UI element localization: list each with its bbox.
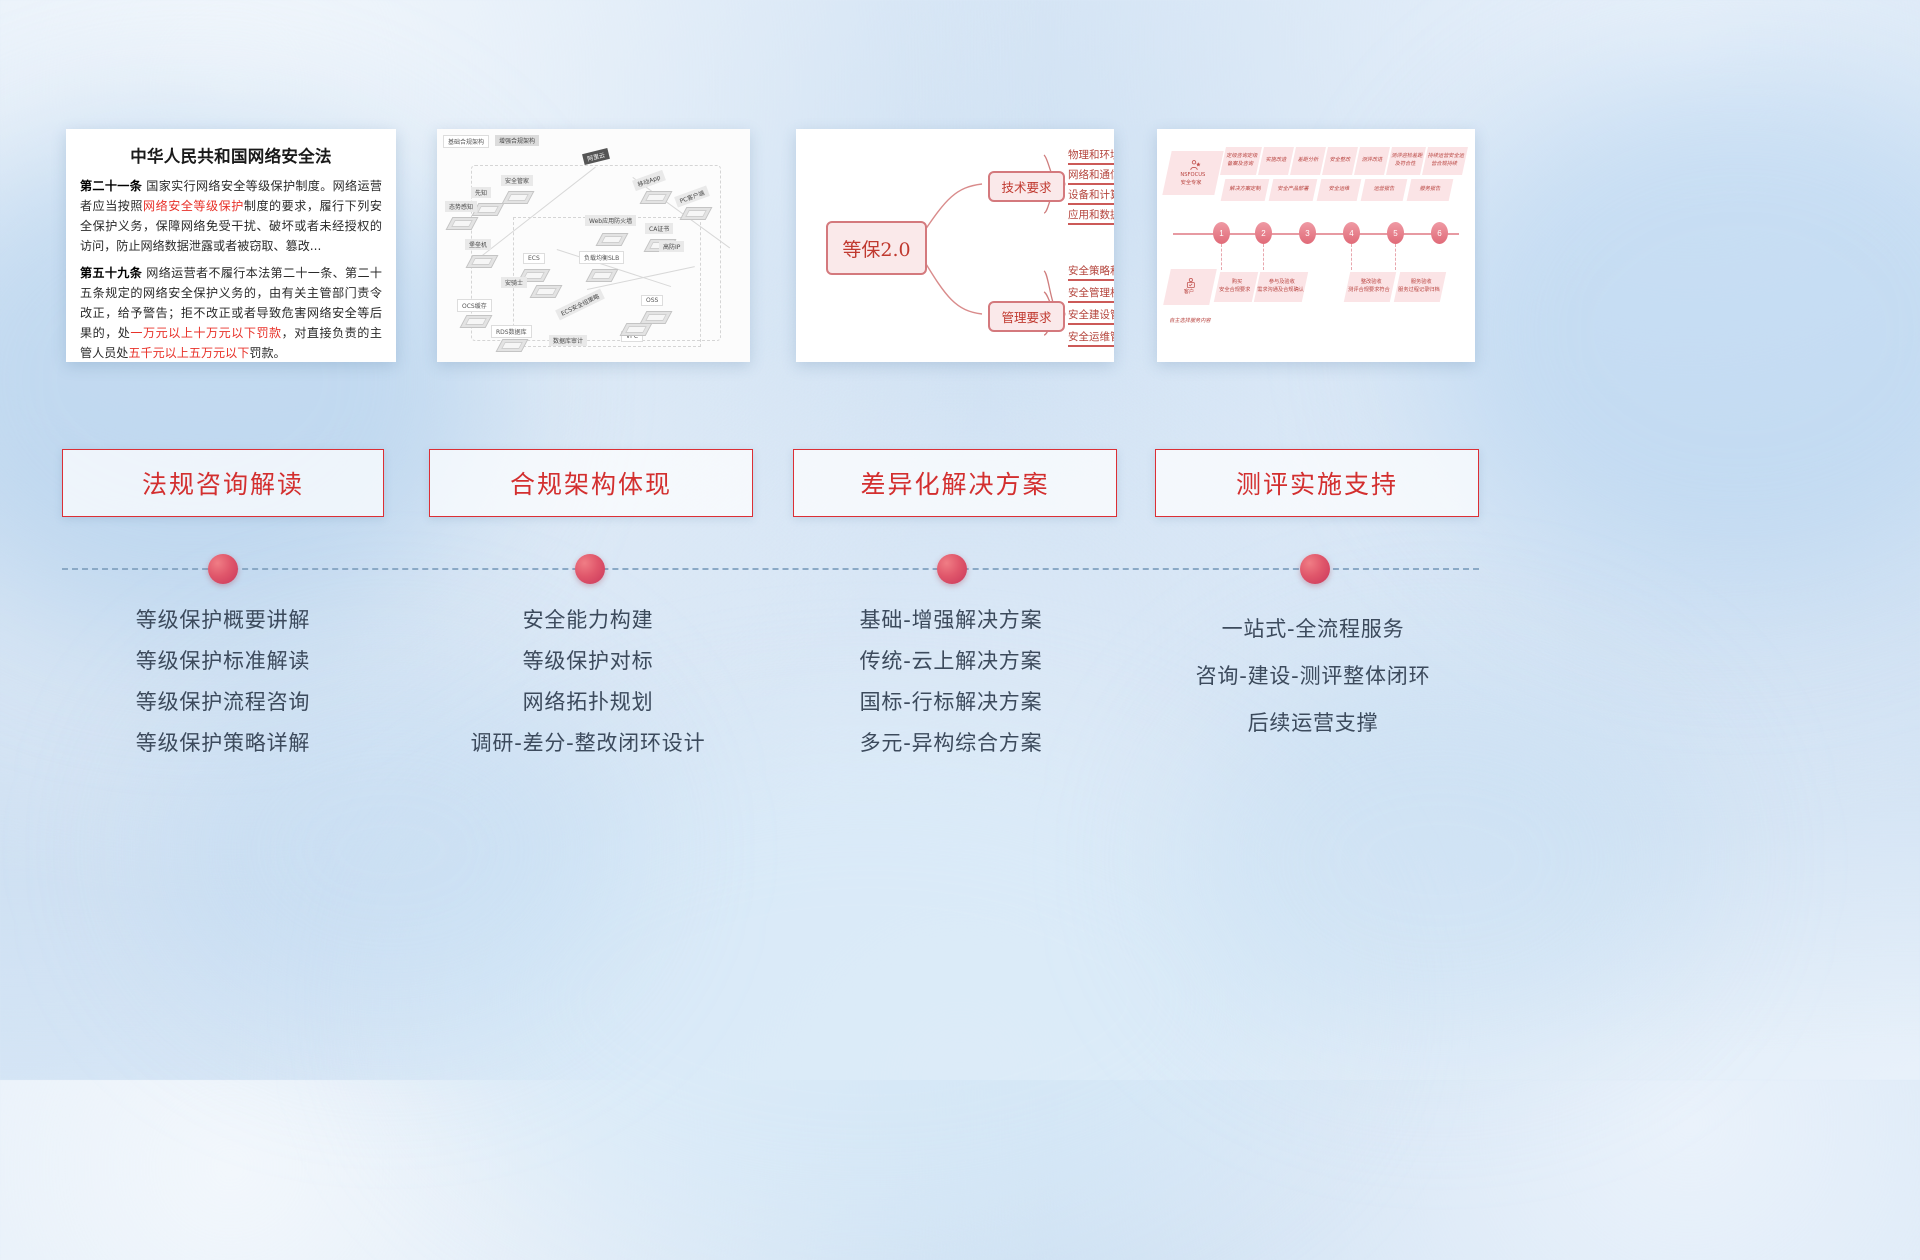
phase-tile-2: 安全运维 bbox=[1317, 179, 1362, 201]
timeline-drop-line bbox=[1221, 244, 1223, 270]
bottom-left-tile-1: 参与及验收 需求沟通及合规确认 bbox=[1254, 272, 1308, 302]
expert-person-icon bbox=[1188, 159, 1201, 172]
list-item: 等级保护对标 bbox=[418, 641, 758, 682]
card-nsfocus-service-timeline[interactable]: NSFOCUS 安全专家 定级咨询定级备案及咨询 实施改造 差距分析 安全整改 … bbox=[1157, 129, 1475, 362]
timeline-node-3[interactable] bbox=[937, 554, 967, 584]
nsfocus-brand-tile: NSFOCUS 安全专家 bbox=[1162, 151, 1223, 195]
list-item: 国标-行标解决方案 bbox=[781, 682, 1121, 723]
architecture-diagram: 基础合规架构 增强合规架构 阿里云 安全管家 先知 态势感知 堡垒机 ECS bbox=[437, 129, 750, 362]
br-label-1: 服务验收 bbox=[1410, 279, 1431, 287]
card-mindmap-dengbao[interactable]: 等保2.0 技术要求 物理和环境安全 网络和通信安全 设备和计算安全 应用和数据… bbox=[796, 129, 1114, 362]
mindmap-leaf-device-compute: 设备和计算安全 bbox=[1068, 187, 1114, 202]
nsfocus-timeline: NSFOCUS 安全专家 定级咨询定级备案及咨询 实施改造 差距分析 安全整改 … bbox=[1157, 129, 1475, 362]
mindmap-leaf-construction-mgmt: 安全建设管理 bbox=[1068, 307, 1114, 322]
chip-waf: Web应用防火墙 bbox=[585, 215, 636, 226]
mindmap-root: 等保2.0 bbox=[826, 221, 927, 275]
step-node-4: 4 bbox=[1343, 222, 1360, 244]
article-59-label: 第五十九条 bbox=[80, 266, 142, 280]
pillar-title-0: 法规咨询解读 bbox=[142, 465, 304, 501]
br-label-0: 整改验收 bbox=[1360, 279, 1381, 287]
customer-tile: 客户 bbox=[1163, 269, 1217, 305]
top-tile-2: 差距分析 bbox=[1290, 147, 1326, 175]
bl-label-0: 购买 bbox=[1232, 279, 1242, 287]
customer-person-icon bbox=[1185, 277, 1197, 289]
chip-db-audit: 数据库审计 bbox=[549, 335, 587, 346]
pillar-button-solution[interactable]: 差异化解决方案 bbox=[793, 449, 1117, 517]
timeline-node-4[interactable] bbox=[1300, 554, 1330, 584]
chip-aliyun: 阿里云 bbox=[582, 148, 610, 165]
list-item: 等级保护策略详解 bbox=[53, 723, 393, 764]
mindmap-leaf-app-data: 应用和数据安全 bbox=[1068, 207, 1114, 222]
bottom-left-tile-0: 购买 安全合规要求 bbox=[1214, 272, 1258, 302]
phase-tile-3: 运营报告 bbox=[1361, 179, 1408, 201]
br-sub-0: 测评合规要求符合 bbox=[1348, 287, 1390, 295]
pillar-list-1: 安全能力构建 等级保护对标 网络拓扑规划 调研-差分-整改闭环设计 bbox=[418, 600, 758, 764]
timeline-drop-line bbox=[1395, 244, 1397, 270]
list-item: 等级保护标准解读 bbox=[53, 641, 393, 682]
nsfocus-brand: NSFOCUS bbox=[1180, 172, 1205, 180]
timeline-dashed-rail bbox=[62, 568, 1479, 570]
article-21-highlight: 网络安全等级保护 bbox=[143, 199, 244, 213]
chip-baoleiji: 堡垒机 bbox=[465, 239, 491, 250]
pillar-title-1: 合规架构体现 bbox=[510, 465, 672, 501]
chip-ca-cert: CA证书 bbox=[645, 223, 673, 234]
tab-basic-architecture[interactable]: 基础合规架构 bbox=[443, 135, 489, 148]
phase-tile-0: 解决方案定制 bbox=[1221, 179, 1270, 201]
timeline-node-1[interactable] bbox=[208, 554, 238, 584]
list-item: 多元-异构综合方案 bbox=[781, 723, 1121, 764]
step-node-5: 5 bbox=[1387, 222, 1404, 244]
list-item: 咨询-建设-测评整体闭环 bbox=[1143, 653, 1483, 700]
chip-slb: 负载均衡SLB bbox=[579, 251, 624, 264]
timeline-drop-line bbox=[1263, 244, 1265, 270]
step-node-6: 6 bbox=[1431, 222, 1448, 244]
slide-stage: 中华人民共和国网络安全法 第二十一条 国家实行网络安全等级保护制度。网络运营者应… bbox=[0, 0, 1920, 1080]
bl-sub-0: 安全合规要求 bbox=[1220, 287, 1251, 295]
article-21-label: 第二十一条 bbox=[80, 179, 142, 193]
mindmap-leaf-network-comm: 网络和通信安全 bbox=[1068, 167, 1114, 182]
step-node-1: 1 bbox=[1213, 222, 1230, 244]
top-tile-0: 定级咨询定级备案及咨询 bbox=[1220, 147, 1262, 175]
pillar-button-regulation[interactable]: 法规咨询解读 bbox=[62, 449, 384, 517]
phase-tile-1: 安全产品部署 bbox=[1269, 179, 1318, 201]
thumbnail-row: 中华人民共和国网络安全法 第二十一条 国家实行网络安全等级保护制度。网络运营者应… bbox=[0, 0, 1920, 380]
top-tile-1: 实施改造 bbox=[1258, 147, 1294, 175]
timeline-node-2[interactable] bbox=[575, 554, 605, 584]
pillar-list-0: 等级保护概要讲解 等级保护标准解读 等级保护流程咨询 等级保护策略详解 bbox=[53, 600, 393, 764]
pillar-list-3: 一站式-全流程服务 咨询-建设-测评整体闭环 后续运营支撑 bbox=[1143, 606, 1483, 747]
chip-oss: OSS bbox=[641, 295, 663, 306]
list-item: 一站式-全流程服务 bbox=[1143, 606, 1483, 653]
chip-taishiganzhi: 态势感知 bbox=[445, 201, 477, 212]
step-node-2: 2 bbox=[1255, 222, 1272, 244]
list-item: 等级保护流程咨询 bbox=[53, 682, 393, 723]
mindmap-leaf-org-personnel: 安全管理机构和人员 bbox=[1068, 285, 1114, 300]
law-article-59: 第五十九条 网络运营者不履行本法第二十一条、第二十五条规定的网络安全保护义务的，… bbox=[80, 263, 382, 363]
step-node-3: 3 bbox=[1299, 222, 1316, 244]
timeline-drop-line bbox=[1351, 244, 1353, 270]
bl-sub-1: 需求沟通及合规确认 bbox=[1257, 287, 1304, 295]
article-59-highlight-a: 一万元以上十万元以下罚款 bbox=[130, 326, 281, 340]
list-item: 调研-差分-整改闭环设计 bbox=[418, 723, 758, 764]
chip-xianzhi: 先知 bbox=[471, 187, 491, 198]
list-item: 安全能力构建 bbox=[418, 600, 758, 641]
bottom-right-tile-0: 整改验收 测评合规要求符合 bbox=[1344, 272, 1396, 302]
customer-label: 客户 bbox=[1184, 289, 1194, 297]
pillar-button-assessment[interactable]: 测评实施支持 bbox=[1155, 449, 1479, 517]
article-59-highlight-b: 五千元以上五万元以下 bbox=[128, 346, 249, 360]
pillar-title-3: 测评实施支持 bbox=[1236, 465, 1398, 501]
law-article-21: 第二十一条 国家实行网络安全等级保护制度。网络运营者应当按照网络安全等级保护制度… bbox=[80, 176, 382, 256]
mindmap-branch-technical: 技术要求 bbox=[988, 171, 1065, 202]
br-sub-1: 服务过程记录归档 bbox=[1398, 287, 1440, 295]
chip-anqishi: 安骑士 bbox=[501, 277, 527, 288]
pillar-detail-lists: 等级保护概要讲解 等级保护标准解读 等级保护流程咨询 等级保护策略详解 安全能力… bbox=[0, 600, 1920, 820]
list-item: 后续运营支撑 bbox=[1143, 700, 1483, 747]
top-tile-3: 安全整改 bbox=[1322, 147, 1358, 175]
customer-sub: 自主选择服务内容 bbox=[1166, 315, 1215, 329]
chip-anquanguanjia: 安全管家 bbox=[501, 175, 533, 186]
mindmap-leaf-ops-mgmt: 安全运维管理 bbox=[1068, 329, 1114, 344]
mindmap-leaf-policy-system: 安全策略和管理制度 bbox=[1068, 263, 1114, 278]
pillar-button-row: 法规咨询解读 合规架构体现 差异化解决方案 测评实施支持 bbox=[0, 449, 1920, 519]
article-59-text-c: 罚款。 bbox=[249, 346, 285, 360]
mindmap: 等保2.0 技术要求 物理和环境安全 网络和通信安全 设备和计算安全 应用和数据… bbox=[796, 129, 1114, 362]
chip-ecs: ECS bbox=[523, 253, 545, 264]
bottom-right-tile-1: 服务验收 服务过程记录归档 bbox=[1394, 272, 1446, 302]
chip-anti-ddos-ip: 高防IP bbox=[659, 241, 684, 252]
pillar-title-2: 差异化解决方案 bbox=[860, 465, 1049, 501]
nsfocus-brand-sub: 安全专家 bbox=[1180, 180, 1201, 188]
card-compliance-architecture[interactable]: 基础合规架构 增强合规架构 阿里云 安全管家 先知 态势感知 堡垒机 ECS bbox=[437, 129, 750, 362]
law-title: 中华人民共和国网络安全法 bbox=[80, 143, 382, 167]
top-tile-4: 测评改进 bbox=[1354, 147, 1390, 175]
list-item: 网络拓扑规划 bbox=[418, 682, 758, 723]
top-tile-6: 持续运营安全运营合规持续 bbox=[1422, 147, 1468, 175]
pillar-list-2: 基础-增强解决方案 传统-云上解决方案 国标-行标解决方案 多元-异构综合方案 bbox=[781, 600, 1121, 764]
top-tile-5: 测评迎检差距及符合性 bbox=[1386, 147, 1426, 175]
tab-enhanced-architecture[interactable]: 增强合规架构 bbox=[495, 135, 539, 146]
list-item: 基础-增强解决方案 bbox=[781, 600, 1121, 641]
list-item: 传统-云上解决方案 bbox=[781, 641, 1121, 682]
card-cybersecurity-law[interactable]: 中华人民共和国网络安全法 第二十一条 国家实行网络安全等级保护制度。网络运营者应… bbox=[66, 129, 396, 362]
mindmap-branch-management: 管理要求 bbox=[988, 301, 1065, 332]
bl-label-1: 参与及验收 bbox=[1269, 279, 1295, 287]
timeline-rail-group bbox=[0, 540, 1920, 600]
list-item: 等级保护概要讲解 bbox=[53, 600, 393, 641]
mindmap-leaf-physical-env: 物理和环境安全 bbox=[1068, 147, 1114, 162]
pillar-button-architecture[interactable]: 合规架构体现 bbox=[429, 449, 753, 517]
phase-tile-4: 服务报告 bbox=[1407, 179, 1454, 201]
